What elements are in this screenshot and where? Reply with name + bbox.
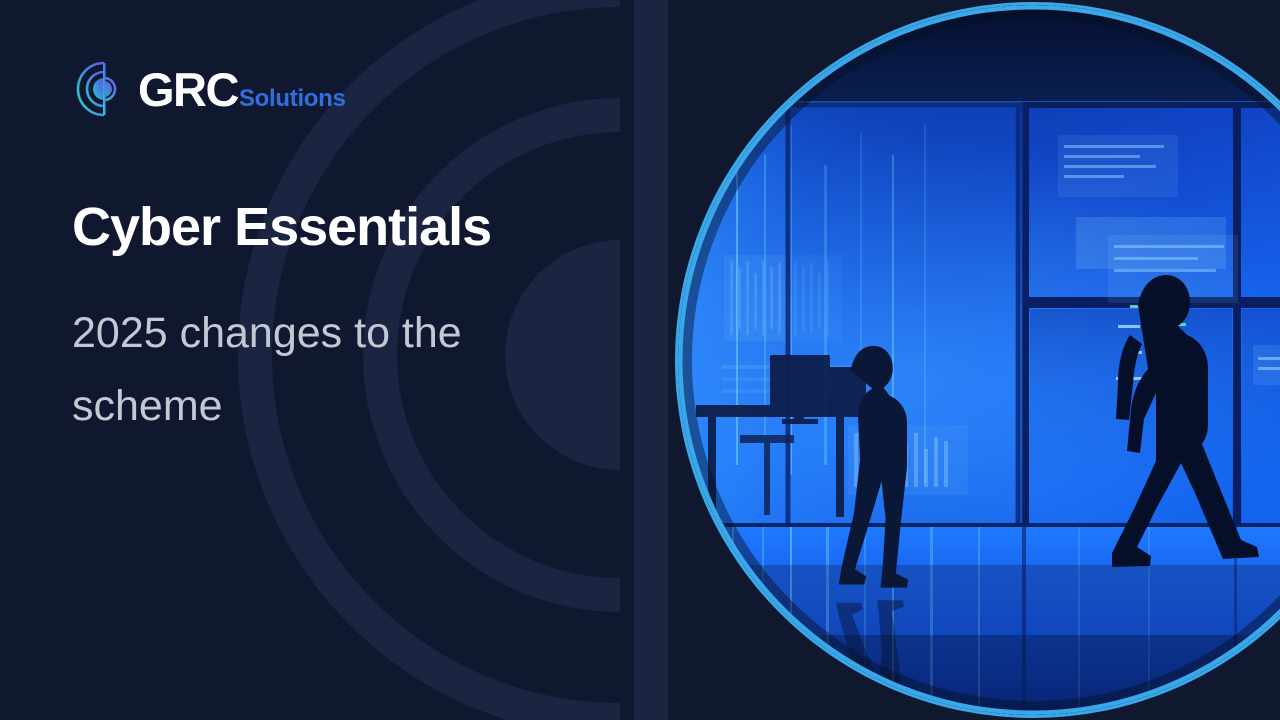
page-subtitle-line-1: 2025 changes to the (72, 297, 592, 370)
title-slide: GRC Solutions Cyber Essentials 2025 chan… (0, 0, 1280, 720)
page-title: Cyber Essentials (72, 198, 672, 256)
page-subtitle: 2025 changes to the scheme (72, 297, 592, 443)
hero-circle-photo (678, 5, 1280, 715)
grc-mark-icon (70, 58, 132, 120)
page-subtitle-line-2: scheme (72, 370, 592, 443)
logo-suffix: Solutions (239, 87, 346, 111)
logo-wordmark: GRC (138, 66, 238, 113)
grc-solutions-logo[interactable]: GRC Solutions (70, 58, 346, 120)
office-silhouette-illustration (678, 5, 1280, 715)
